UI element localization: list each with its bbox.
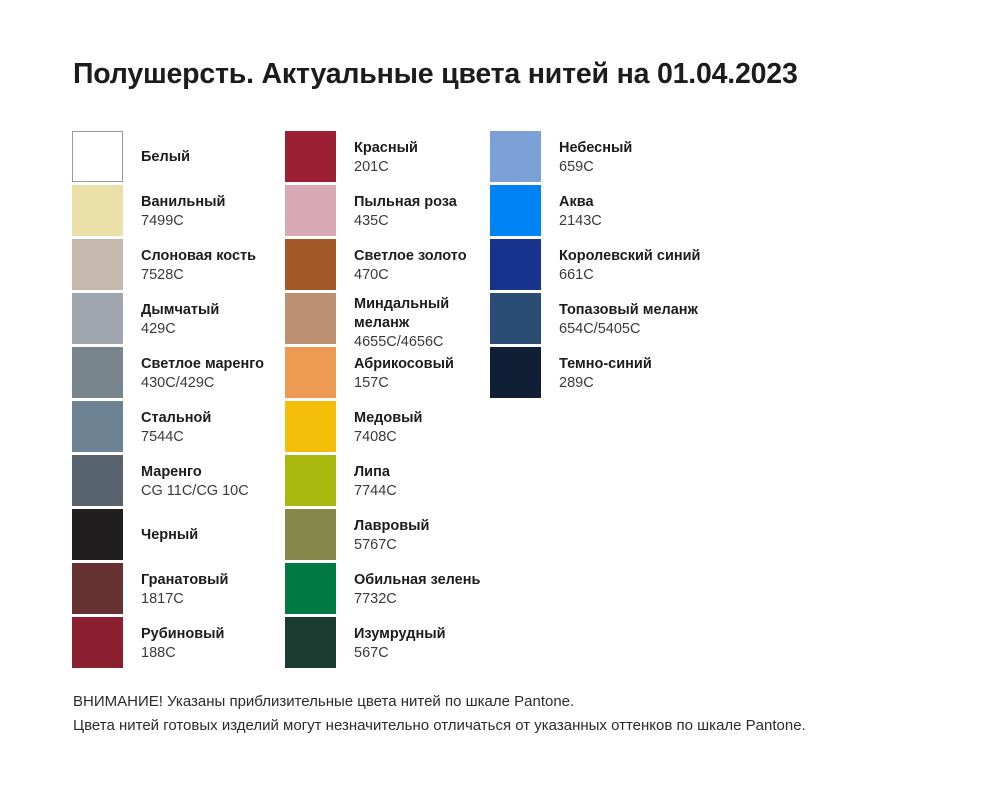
- color-swatch[interactable]: [490, 185, 541, 236]
- swatch-pantone-code: 661C: [559, 266, 700, 285]
- swatch-label-group: Ванильный7499C: [141, 185, 225, 236]
- swatch-name: Топазовый меланж: [559, 301, 698, 320]
- swatch-label-group: Пыльная роза435C: [354, 185, 457, 236]
- swatch-name: Изумрудный: [354, 625, 446, 644]
- swatch-row[interactable]: Ванильный7499C: [72, 185, 285, 239]
- color-swatch[interactable]: [285, 563, 336, 614]
- swatch-label-group: Изумрудный567C: [354, 617, 446, 668]
- swatch-name: Аква: [559, 193, 602, 212]
- swatch-label-group: Черный: [141, 509, 198, 560]
- swatch-column-2: Красный201CПыльная роза435CСветлое золот…: [285, 131, 490, 671]
- swatch-row[interactable]: Аква2143C: [490, 185, 750, 239]
- swatch-row[interactable]: Королевский синий661C: [490, 239, 750, 293]
- swatch-row[interactable]: Слоновая кость7528C: [72, 239, 285, 293]
- color-swatch[interactable]: [490, 347, 541, 398]
- swatch-pantone-code: 654C/5405C: [559, 320, 698, 339]
- swatch-row[interactable]: МаренгоCG 11C/CG 10C: [72, 455, 285, 509]
- swatch-pantone-code: CG 11C/CG 10C: [141, 482, 249, 501]
- swatch-column-1: БелыйВанильный7499CСлоновая кость7528CДы…: [72, 131, 285, 671]
- swatch-name: Светлое маренго: [141, 355, 264, 374]
- swatch-pantone-code: 430C/429C: [141, 374, 264, 393]
- swatch-row[interactable]: Лавровый5767C: [285, 509, 490, 563]
- swatch-pantone-code: 2143C: [559, 212, 602, 231]
- color-swatch[interactable]: [72, 455, 123, 506]
- swatch-pantone-code: 7744C: [354, 482, 397, 501]
- swatch-label-group: Липа7744C: [354, 455, 397, 506]
- swatch-pantone-code: 435C: [354, 212, 457, 231]
- swatch-label-group: Светлое золото470C: [354, 239, 467, 290]
- swatch-name: Обильная зелень: [354, 571, 480, 590]
- swatch-row[interactable]: Обильная зелень7732C: [285, 563, 490, 617]
- swatch-name: Медовый: [354, 409, 422, 428]
- swatch-pantone-code: 201C: [354, 158, 418, 177]
- swatch-label-group: Светлое маренго430C/429C: [141, 347, 264, 398]
- swatch-pantone-code: 1817C: [141, 590, 228, 609]
- swatch-label-group: Гранатовый1817C: [141, 563, 228, 614]
- swatch-label-group: МаренгоCG 11C/CG 10C: [141, 455, 249, 506]
- swatch-pantone-code: 188C: [141, 644, 224, 663]
- color-swatch[interactable]: [490, 239, 541, 290]
- swatch-row[interactable]: Пыльная роза435C: [285, 185, 490, 239]
- swatch-name: Красный: [354, 139, 418, 158]
- swatch-row[interactable]: Черный: [72, 509, 285, 563]
- color-swatch[interactable]: [72, 347, 123, 398]
- color-swatch[interactable]: [72, 131, 123, 182]
- swatch-columns: БелыйВанильный7499CСлоновая кость7528CДы…: [72, 131, 750, 671]
- swatch-label-group: Обильная зелень7732C: [354, 563, 480, 614]
- color-chart-page: Полушерсть. Актуальные цвета нитей на 01…: [0, 0, 1000, 801]
- swatch-name: Светлое золото: [354, 247, 467, 266]
- color-swatch[interactable]: [285, 131, 336, 182]
- color-swatch[interactable]: [285, 185, 336, 236]
- swatch-label-group: Слоновая кость7528C: [141, 239, 256, 290]
- color-swatch[interactable]: [285, 617, 336, 668]
- color-swatch[interactable]: [72, 185, 123, 236]
- swatch-column-3: Небесный659CАква2143CКоролевский синий66…: [490, 131, 750, 401]
- swatch-row[interactable]: Топазовый меланж654C/5405C: [490, 293, 750, 347]
- swatch-pantone-code: 7408C: [354, 428, 422, 447]
- swatch-pantone-code: 5767C: [354, 536, 429, 555]
- swatch-name: Небесный: [559, 139, 632, 158]
- swatch-row[interactable]: Светлое маренго430C/429C: [72, 347, 285, 401]
- swatch-label-group: Миндальный меланж4655C/4656C: [354, 293, 449, 352]
- swatch-row[interactable]: Красный201C: [285, 131, 490, 185]
- swatch-row[interactable]: Медовый7408C: [285, 401, 490, 455]
- swatch-label-group: Лавровый5767C: [354, 509, 429, 560]
- swatch-row[interactable]: Липа7744C: [285, 455, 490, 509]
- color-swatch[interactable]: [285, 455, 336, 506]
- color-swatch[interactable]: [490, 293, 541, 344]
- color-swatch[interactable]: [285, 401, 336, 452]
- swatch-label-group: Дымчатый429C: [141, 293, 219, 344]
- swatch-label-group: Стальной7544C: [141, 401, 211, 452]
- color-swatch[interactable]: [72, 617, 123, 668]
- swatch-name: Липа: [354, 463, 397, 482]
- swatch-row[interactable]: Рубиновый188C: [72, 617, 285, 671]
- color-swatch[interactable]: [285, 509, 336, 560]
- color-swatch[interactable]: [285, 239, 336, 290]
- swatch-pantone-code: 7732C: [354, 590, 480, 609]
- swatch-row[interactable]: Светлое золото470C: [285, 239, 490, 293]
- swatch-name: Миндальный меланж: [354, 295, 449, 333]
- swatch-name: Белый: [141, 148, 190, 167]
- page-title: Полушерсть. Актуальные цвета нитей на 01…: [73, 58, 798, 91]
- swatch-pantone-code: 7499C: [141, 212, 225, 231]
- swatch-row[interactable]: Гранатовый1817C: [72, 563, 285, 617]
- color-swatch[interactable]: [490, 131, 541, 182]
- footer-line-1: ВНИМАНИЕ! Указаны приблизительные цвета …: [73, 690, 806, 714]
- color-swatch[interactable]: [285, 293, 336, 344]
- swatch-name: Ванильный: [141, 193, 225, 212]
- swatch-row[interactable]: Темно-синий289C: [490, 347, 750, 401]
- swatch-pantone-code: 7528C: [141, 266, 256, 285]
- color-swatch[interactable]: [72, 239, 123, 290]
- swatch-row[interactable]: Изумрудный567C: [285, 617, 490, 671]
- swatch-pantone-code: 429C: [141, 320, 219, 339]
- swatch-row[interactable]: Небесный659C: [490, 131, 750, 185]
- swatch-name: Пыльная роза: [354, 193, 457, 212]
- swatch-name: Рубиновый: [141, 625, 224, 644]
- swatch-name: Стальной: [141, 409, 211, 428]
- swatch-name: Маренго: [141, 463, 249, 482]
- swatch-name: Дымчатый: [141, 301, 219, 320]
- swatch-label-group: Рубиновый188C: [141, 617, 224, 668]
- swatch-label-group: Красный201C: [354, 131, 418, 182]
- swatch-label-group: Темно-синий289C: [559, 347, 652, 398]
- color-swatch[interactable]: [285, 347, 336, 398]
- color-swatch[interactable]: [72, 563, 123, 614]
- swatch-label-group: Белый: [141, 131, 190, 182]
- swatch-row[interactable]: Миндальный меланж4655C/4656C: [285, 293, 490, 347]
- swatch-pantone-code: 7544C: [141, 428, 211, 447]
- swatch-name: Абрикосовый: [354, 355, 454, 374]
- swatch-pantone-code: 289C: [559, 374, 652, 393]
- footer-note: ВНИМАНИЕ! Указаны приблизительные цвета …: [73, 690, 806, 738]
- swatch-label-group: Аква2143C: [559, 185, 602, 236]
- swatch-label-group: Топазовый меланж654C/5405C: [559, 293, 698, 344]
- swatch-pantone-code: 470C: [354, 266, 467, 285]
- swatch-label-group: Абрикосовый157C: [354, 347, 454, 398]
- swatch-row[interactable]: Стальной7544C: [72, 401, 285, 455]
- swatch-pantone-code: 157C: [354, 374, 454, 393]
- swatch-label-group: Медовый7408C: [354, 401, 422, 452]
- swatch-name: Темно-синий: [559, 355, 652, 374]
- color-swatch[interactable]: [72, 509, 123, 560]
- swatch-row[interactable]: Белый: [72, 131, 285, 185]
- swatch-name: Лавровый: [354, 517, 429, 536]
- color-swatch[interactable]: [72, 401, 123, 452]
- swatch-pantone-code: 659C: [559, 158, 632, 177]
- swatch-row[interactable]: Абрикосовый157C: [285, 347, 490, 401]
- swatch-label-group: Королевский синий661C: [559, 239, 700, 290]
- swatch-name: Слоновая кость: [141, 247, 256, 266]
- swatch-label-group: Небесный659C: [559, 131, 632, 182]
- swatch-name: Гранатовый: [141, 571, 228, 590]
- swatch-name: Черный: [141, 526, 198, 545]
- swatch-row[interactable]: Дымчатый429C: [72, 293, 285, 347]
- footer-line-2: Цвета нитей готовых изделий могут незнач…: [73, 714, 806, 738]
- swatch-pantone-code: 567C: [354, 644, 446, 663]
- color-swatch[interactable]: [72, 293, 123, 344]
- swatch-name: Королевский синий: [559, 247, 700, 266]
